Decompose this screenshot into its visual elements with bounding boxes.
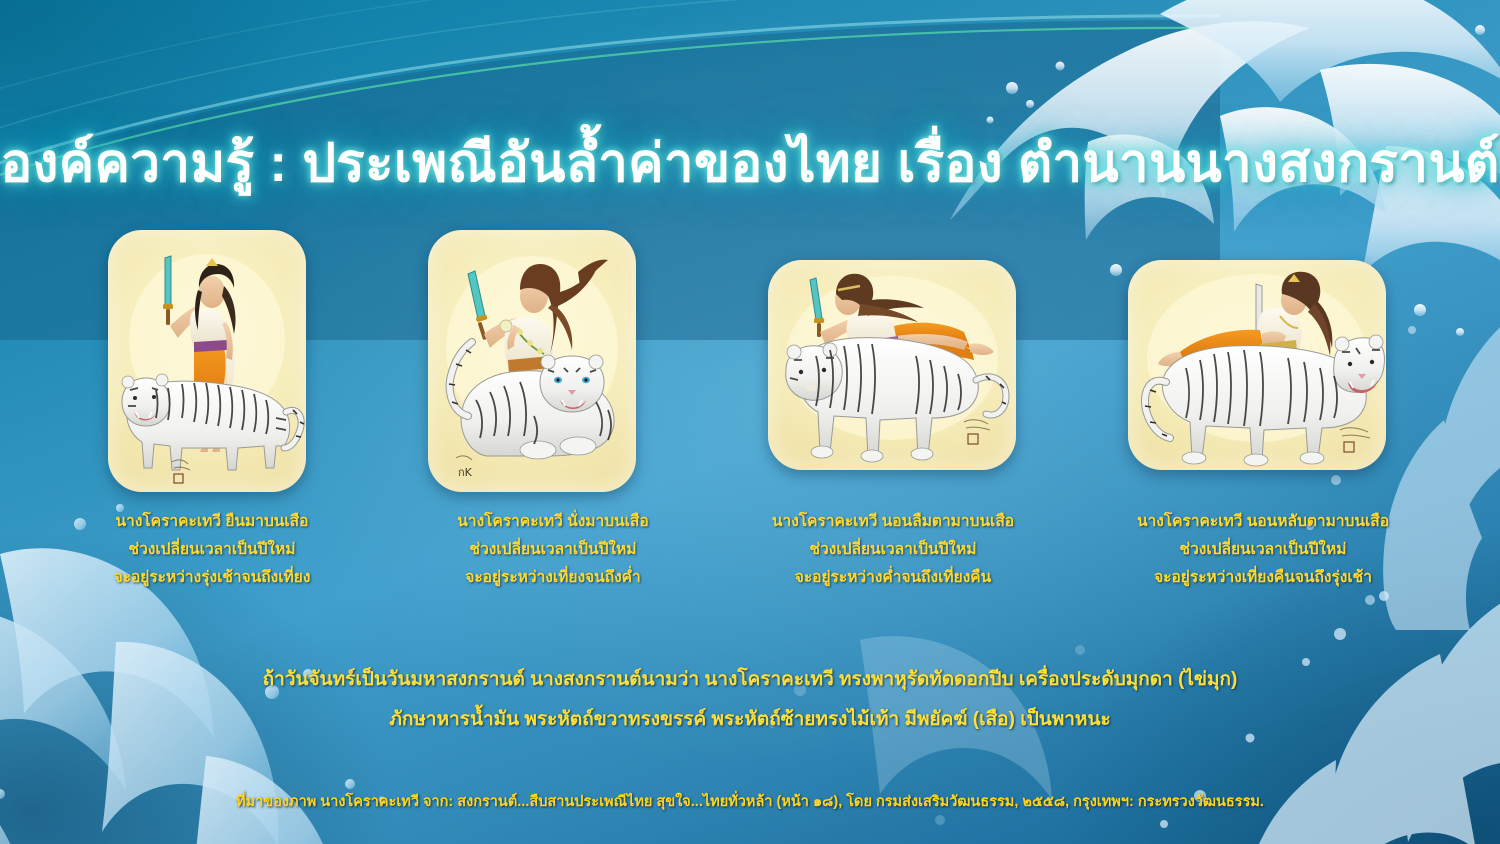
illustration-card-reclining-asleep[interactable]: [1128, 260, 1386, 470]
image-source-credit: ที่มาของภาพ นางโคราคะเทวี จาก: สงกรานต์.…: [0, 790, 1500, 813]
caption-line-1: นางโคราคะเทวี นอนหลับตามาบนเสือ: [1078, 508, 1448, 536]
illustration-card-reclining-awake[interactable]: [768, 260, 1016, 470]
goddess-sitting-on-tiger-illustration: กK: [428, 230, 636, 492]
caption-standing: นางโคราคะเทวี ยืนมาบนเสือ ช่วงเปลี่ยนเวล…: [42, 508, 382, 592]
poster-title-bar: องค์ความรู้ : ประเพณีอันล้ำค่าของไทย เรื…: [0, 124, 1500, 202]
illustration-card-standing[interactable]: [108, 230, 306, 492]
page-title: องค์ความรู้ : ประเพณีอันล้ำค่าของไทย เรื…: [0, 121, 1499, 205]
caption-reclining-asleep: นางโคราคะเทวี นอนหลับตามาบนเสือ ช่วงเปลี…: [1078, 508, 1448, 592]
illustration-card-row: กK: [0, 222, 1500, 502]
caption-line-3: จะอยู่ระหว่างรุ่งเช้าจนถึงเที่ยง: [42, 564, 382, 592]
caption-line-3: จะอยู่ระหว่างค่ำจนถึงเที่ยงคืน: [718, 564, 1068, 592]
goddess-reclining-awake-on-tiger-illustration: [768, 260, 1016, 470]
body-description: ถ้าวันจันทร์เป็นวันมหาสงกรานต์ นางสงกราน…: [0, 660, 1500, 740]
caption-line-3: จะอยู่ระหว่างเที่ยงจนถึงค่ำ: [378, 564, 728, 592]
goddess-standing-on-tiger-illustration: [108, 230, 306, 492]
caption-line-2: ช่วงเปลี่ยนเวลาเป็นปีใหม่: [718, 536, 1068, 564]
poster-canvas: องค์ความรู้ : ประเพณีอันล้ำค่าของไทย เรื…: [0, 0, 1500, 844]
caption-reclining-awake: นางโคราคะเทวี นอนลืมตามาบนเสือ ช่วงเปลี่…: [718, 508, 1068, 592]
goddess-reclining-asleep-on-tiger-illustration: [1128, 260, 1386, 470]
caption-line-1: นางโคราคะเทวี นอนลืมตามาบนเสือ: [718, 508, 1068, 536]
caption-line-3: จะอยู่ระหว่างเที่ยงคืนจนถึงรุ่งเช้า: [1078, 564, 1448, 592]
svg-text:กK: กK: [458, 466, 473, 479]
caption-line-1: นางโคราคะเทวี ยืนมาบนเสือ: [42, 508, 382, 536]
caption-line-2: ช่วงเปลี่ยนเวลาเป็นปีใหม่: [378, 536, 728, 564]
caption-sitting: นางโคราคะเทวี นั่งมาบนเสือ ช่วงเปลี่ยนเว…: [378, 508, 728, 592]
caption-line-2: ช่วงเปลี่ยนเวลาเป็นปีใหม่: [42, 536, 382, 564]
body-line-1: ถ้าวันจันทร์เป็นวันมหาสงกรานต์ นางสงกราน…: [0, 660, 1500, 700]
body-line-2: ภักษาหารน้ำมัน พระหัตถ์ขวาทรงขรรค์ พระหั…: [0, 700, 1500, 740]
caption-line-1: นางโคราคะเทวี นั่งมาบนเสือ: [378, 508, 728, 536]
illustration-card-sitting[interactable]: กK: [428, 230, 636, 492]
caption-line-2: ช่วงเปลี่ยนเวลาเป็นปีใหม่: [1078, 536, 1448, 564]
